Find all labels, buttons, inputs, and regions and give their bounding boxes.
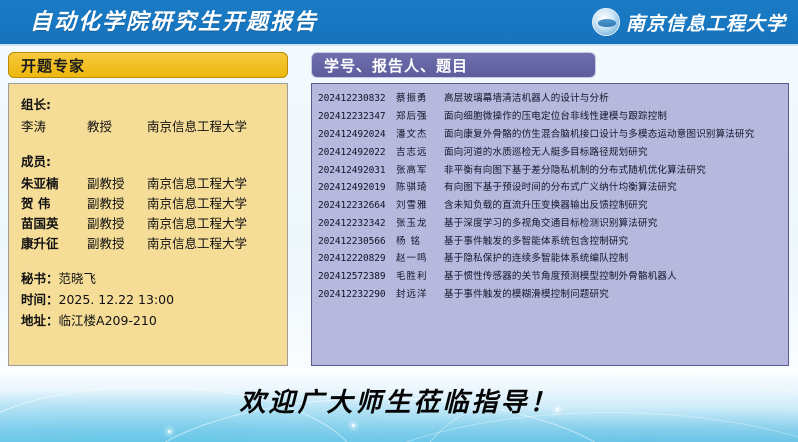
report-title: 非平衡有向图下基于差分隐私机制的分布式随机优化算法研究 — [444, 161, 784, 179]
place-row: 地址：临江楼A209-210 — [21, 310, 277, 331]
student-id: 202412232342 — [318, 214, 396, 232]
report-title: 基于深度学习的多视角交通目标检测识别算法研究 — [444, 214, 784, 232]
member-row: 朱亚楠 副教授 南京信息工程大学 — [21, 174, 277, 194]
member-row: 苗国英 副教授 南京信息工程大学 — [21, 214, 277, 234]
university-emblem-icon — [592, 8, 620, 36]
table-row: 202412220829赵一鸣基于隐私保护的连续多智能体系统编队控制 — [318, 250, 784, 268]
presenter-name: 蔡振勇 — [396, 90, 444, 108]
report-title: 有向图下基于预设时间的分布式广义纳什均衡算法研究 — [444, 179, 784, 197]
member-org: 南京信息工程大学 — [147, 174, 277, 194]
report-title: 面向细胞微操作的压电定位台非线性建模与跟踪控制 — [444, 108, 784, 126]
member-title: 副教授 — [87, 234, 147, 254]
presenter-name: 刘雪雅 — [396, 197, 444, 215]
presenter-name: 吉志远 — [396, 143, 444, 161]
presenter-name: 郑后强 — [396, 108, 444, 126]
student-id: 202412230566 — [318, 232, 396, 250]
student-id: 202412572389 — [318, 268, 396, 286]
student-id: 202412492019 — [318, 179, 396, 197]
table-row: 202412492024潘文杰面向康复外骨骼的仿生混合脑机接口设计与多模态运动意… — [318, 126, 784, 144]
table-row: 202412230566杨 铭基于事件触发的多智能体系统包含控制研究 — [318, 232, 784, 250]
member-row: 康升征 副教授 南京信息工程大学 — [21, 234, 277, 254]
member-org: 南京信息工程大学 — [147, 194, 277, 214]
member-name: 朱亚楠 — [21, 174, 87, 194]
decorative-dot-icon — [352, 424, 355, 427]
student-id: 202412492031 — [318, 161, 396, 179]
member-name: 苗国英 — [21, 214, 87, 234]
table-row: 202412232347郑后强面向细胞微操作的压电定位台非线性建模与跟踪控制 — [318, 108, 784, 126]
student-id: 202412232347 — [318, 108, 396, 126]
decorative-dot-icon — [168, 430, 171, 433]
time-value: 2025. 12.22 13:00 — [59, 292, 175, 307]
report-title: 高层玻璃幕墙清洁机器人的设计与分析 — [444, 90, 784, 108]
leader-row: 李涛 教授 南京信息工程大学 — [21, 117, 277, 137]
presenter-name: 毛胜利 — [396, 268, 444, 286]
table-row: 202412492031张高军非平衡有向图下基于差分隐私机制的分布式随机优化算法… — [318, 161, 784, 179]
student-id: 202412230832 — [318, 90, 396, 108]
university-logo: 南京信息工程大学 — [592, 6, 786, 38]
experts-panel-body: 组长: 李涛 教授 南京信息工程大学 成员: 朱亚楠 副教授 南京信息工程大学 … — [8, 83, 288, 366]
leader-title: 教授 — [87, 117, 147, 137]
university-name: 南京信息工程大学 — [626, 9, 786, 36]
secretary-label: 秘书： — [21, 271, 59, 286]
presenter-name: 张玉龙 — [396, 214, 444, 232]
reports-panel: 学号、报告人、题目 202412230832蔡振勇高层玻璃幕墙清洁机器人的设计与… — [311, 52, 789, 366]
spacer — [21, 137, 277, 151]
leader-org: 南京信息工程大学 — [147, 117, 277, 137]
presenter-name: 张高军 — [396, 161, 444, 179]
table-row: 202412232290封远洋基于事件触发的模糊滑模控制问题研究 — [318, 286, 784, 304]
presenter-name: 封远洋 — [396, 286, 444, 304]
secretary-row: 秘书：范晓飞 — [21, 268, 277, 289]
place-value: 临江楼A209-210 — [59, 313, 157, 328]
place-label: 地址： — [21, 313, 59, 328]
student-id: 202412232290 — [318, 286, 396, 304]
members-label: 成员: — [21, 151, 277, 170]
student-id: 202412220829 — [318, 250, 396, 268]
student-id: 202412492024 — [318, 126, 396, 144]
report-title: 基于隐私保护的连续多智能体系统编队控制 — [444, 250, 784, 268]
table-row: 202412572389毛胜利基于惯性传感器的关节角度预测模型控制外骨骼机器人 — [318, 268, 784, 286]
report-title: 面向河道的水质巡检无人艇多目标路径规划研究 — [444, 143, 784, 161]
member-title: 副教授 — [87, 174, 147, 194]
page-title: 自动化学院研究生开题报告 — [30, 4, 318, 40]
reports-panel-body: 202412230832蔡振勇高层玻璃幕墙清洁机器人的设计与分析20241223… — [311, 83, 789, 366]
presenter-name: 潘文杰 — [396, 126, 444, 144]
table-row: 202412232342张玉龙基于深度学习的多视角交通目标检测识别算法研究 — [318, 214, 784, 232]
report-title: 基于惯性传感器的关节角度预测模型控制外骨骼机器人 — [444, 268, 784, 286]
presenter-name: 赵一鸣 — [396, 250, 444, 268]
page-title-bar: 自动化学院研究生开题报告 南京信息工程大学 — [0, 0, 798, 44]
report-title: 基于事件触发的模糊滑模控制问题研究 — [444, 286, 784, 304]
report-title: 基于事件触发的多智能体系统包含控制研究 — [444, 232, 784, 250]
time-label: 时间： — [21, 292, 59, 307]
table-row: 202412232664刘雪雅含未知负载的直流升压变换器输出反馈控制研究 — [318, 197, 784, 215]
student-id: 202412232664 — [318, 197, 396, 215]
member-org: 南京信息工程大学 — [147, 214, 277, 234]
student-id: 202412492022 — [318, 143, 396, 161]
spacer — [21, 254, 277, 268]
experts-panel-header: 开题专家 — [8, 52, 288, 78]
presenter-name: 杨 铭 — [396, 232, 444, 250]
welcome-banner: 欢迎广大师生莅临指导！ — [0, 368, 798, 442]
secretary-value: 范晓飞 — [59, 271, 97, 286]
table-row: 202412492022吉志远面向河道的水质巡检无人艇多目标路径规划研究 — [318, 143, 784, 161]
report-title: 面向康复外骨骼的仿生混合脑机接口设计与多模态运动意图识别算法研究 — [444, 126, 784, 144]
member-title: 副教授 — [87, 214, 147, 234]
welcome-banner-text: 欢迎广大师生莅临指导！ — [0, 382, 798, 419]
report-title: 含未知负载的直流升压变换器输出反馈控制研究 — [444, 197, 784, 215]
experts-panel: 开题专家 组长: 李涛 教授 南京信息工程大学 成员: 朱亚楠 副教授 南京信息… — [8, 52, 288, 366]
leader-name: 李涛 — [21, 117, 87, 137]
member-title: 副教授 — [87, 194, 147, 214]
reports-table-body: 202412230832蔡振勇高层玻璃幕墙清洁机器人的设计与分析20241223… — [318, 90, 784, 303]
member-row: 贺 伟 副教授 南京信息工程大学 — [21, 194, 277, 214]
table-row: 202412492019陈骐琦有向图下基于预设时间的分布式广义纳什均衡算法研究 — [318, 179, 784, 197]
presenter-name: 陈骐琦 — [396, 179, 444, 197]
table-row: 202412230832蔡振勇高层玻璃幕墙清洁机器人的设计与分析 — [318, 90, 784, 108]
member-name: 贺 伟 — [21, 194, 87, 214]
member-org: 南京信息工程大学 — [147, 234, 277, 254]
member-name: 康升征 — [21, 234, 87, 254]
title-bar-underline — [0, 44, 798, 46]
leader-label: 组长: — [21, 94, 277, 113]
time-row: 时间：2025. 12.22 13:00 — [21, 289, 277, 310]
reports-panel-header: 学号、报告人、题目 — [311, 52, 596, 78]
reports-table: 202412230832蔡振勇高层玻璃幕墙清洁机器人的设计与分析20241223… — [318, 90, 784, 303]
